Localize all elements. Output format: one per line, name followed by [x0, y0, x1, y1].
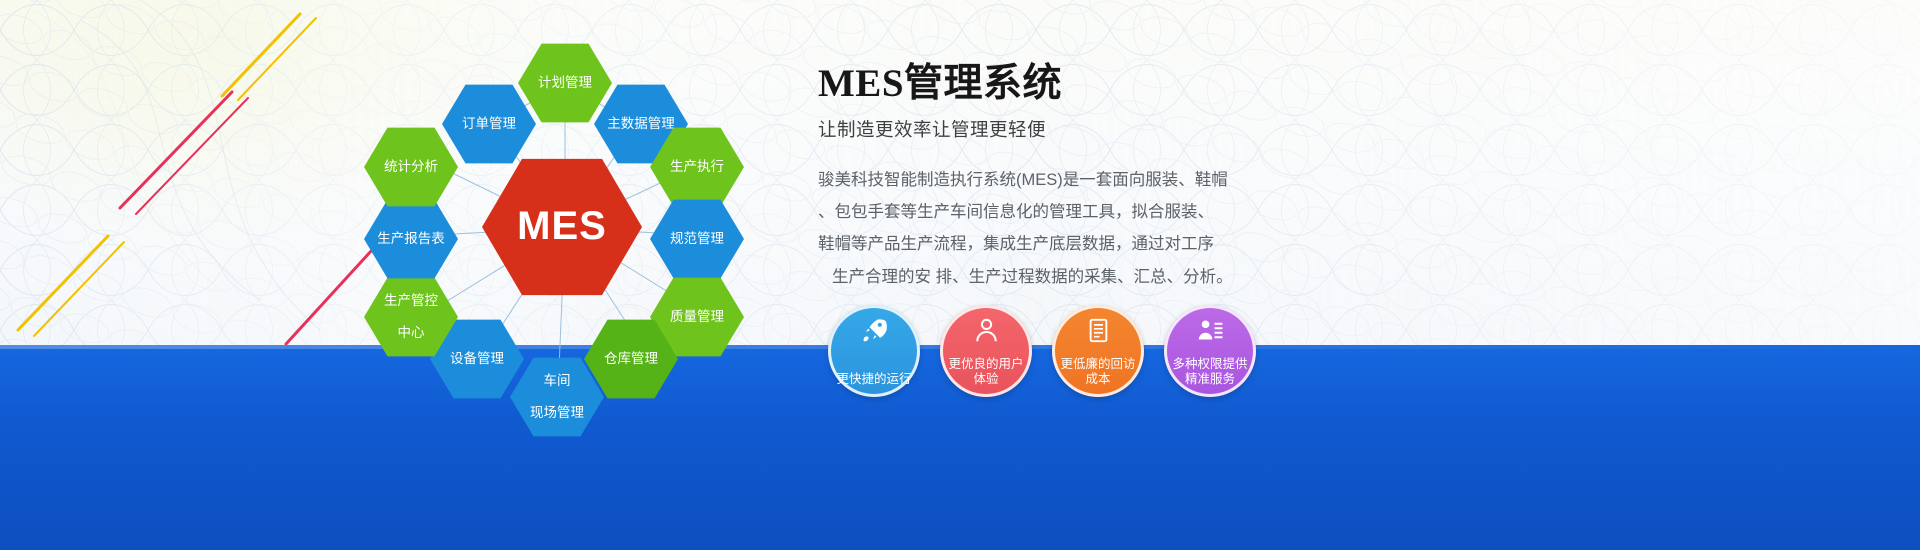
page-title: MES管理系统	[818, 52, 1288, 108]
badge-faster-operation[interactable]: 更快捷的运行	[828, 305, 920, 397]
hex-center-label: MES	[513, 203, 611, 250]
badge-permissions[interactable]: 多种权限提供精准服务	[1164, 305, 1256, 397]
paragraph-line: 骏美科技智能制造执行系统(MES)是一套面向服装、鞋帽	[818, 164, 1288, 196]
rocket-icon	[828, 315, 920, 345]
badge-lower-cost[interactable]: 更低廉的回访成本	[1052, 305, 1144, 397]
paragraph-line: 、包包手套等生产车间信息化的管理工具，拟合服装、	[818, 196, 1288, 228]
hex-label: 规范管理	[666, 231, 728, 247]
badge-better-experience[interactable]: 更优良的用户体验	[940, 305, 1032, 397]
hex-label: 统计分析	[380, 159, 442, 175]
badge-label: 多种权限提供精准服务	[1172, 357, 1247, 388]
hex-label: 计划管理	[534, 75, 596, 91]
hex-label: 车间现场管理	[522, 373, 592, 421]
document-icon	[1052, 315, 1144, 345]
user-list-icon	[1164, 315, 1256, 345]
hex-label: 质量管理	[666, 309, 728, 325]
description-paragraph: 骏美科技智能制造执行系统(MES)是一套面向服装、鞋帽 、包包手套等生产车间信息…	[818, 164, 1288, 293]
hex-label: 生产管控中心	[376, 293, 446, 341]
paragraph-line: 生产合理的安 排、生产过程数据的采集、汇总、分析。	[818, 261, 1288, 293]
hex-label: 生产执行	[666, 159, 728, 175]
hex-label: 仓库管理	[600, 351, 662, 367]
page-subtitle: 让制造更效率让管理更轻便	[818, 116, 1288, 142]
badge-label: 更快捷的运行	[836, 372, 911, 388]
badge-label: 更低廉的回访成本	[1060, 357, 1135, 388]
mes-banner: MES 计划管理 主数据管理 生产执行 规范管理 质量管理 仓库管理 车间现场管…	[0, 0, 1920, 550]
hex-label: 生产报告表	[373, 231, 449, 247]
badge-label: 更优良的用户体验	[948, 357, 1023, 388]
mes-hex-diagram: MES 计划管理 主数据管理 生产执行 规范管理 质量管理 仓库管理 车间现场管…	[330, 8, 800, 438]
paragraph-line: 鞋帽等产品生产流程，集成生产底层数据，通过对工序	[818, 228, 1288, 260]
hex-label: 设备管理	[446, 351, 508, 367]
user-icon	[940, 315, 1032, 345]
feature-badges: 更快捷的运行 更优良的用户体验 更低廉的回访成本 多种权限提供精准服务	[822, 305, 1292, 405]
hex-label: 订单管理	[458, 116, 520, 132]
banner-copy: MES管理系统 让制造更效率让管理更轻便 骏美科技智能制造执行系统(MES)是一…	[818, 52, 1288, 293]
hex-label: 主数据管理	[603, 116, 679, 132]
